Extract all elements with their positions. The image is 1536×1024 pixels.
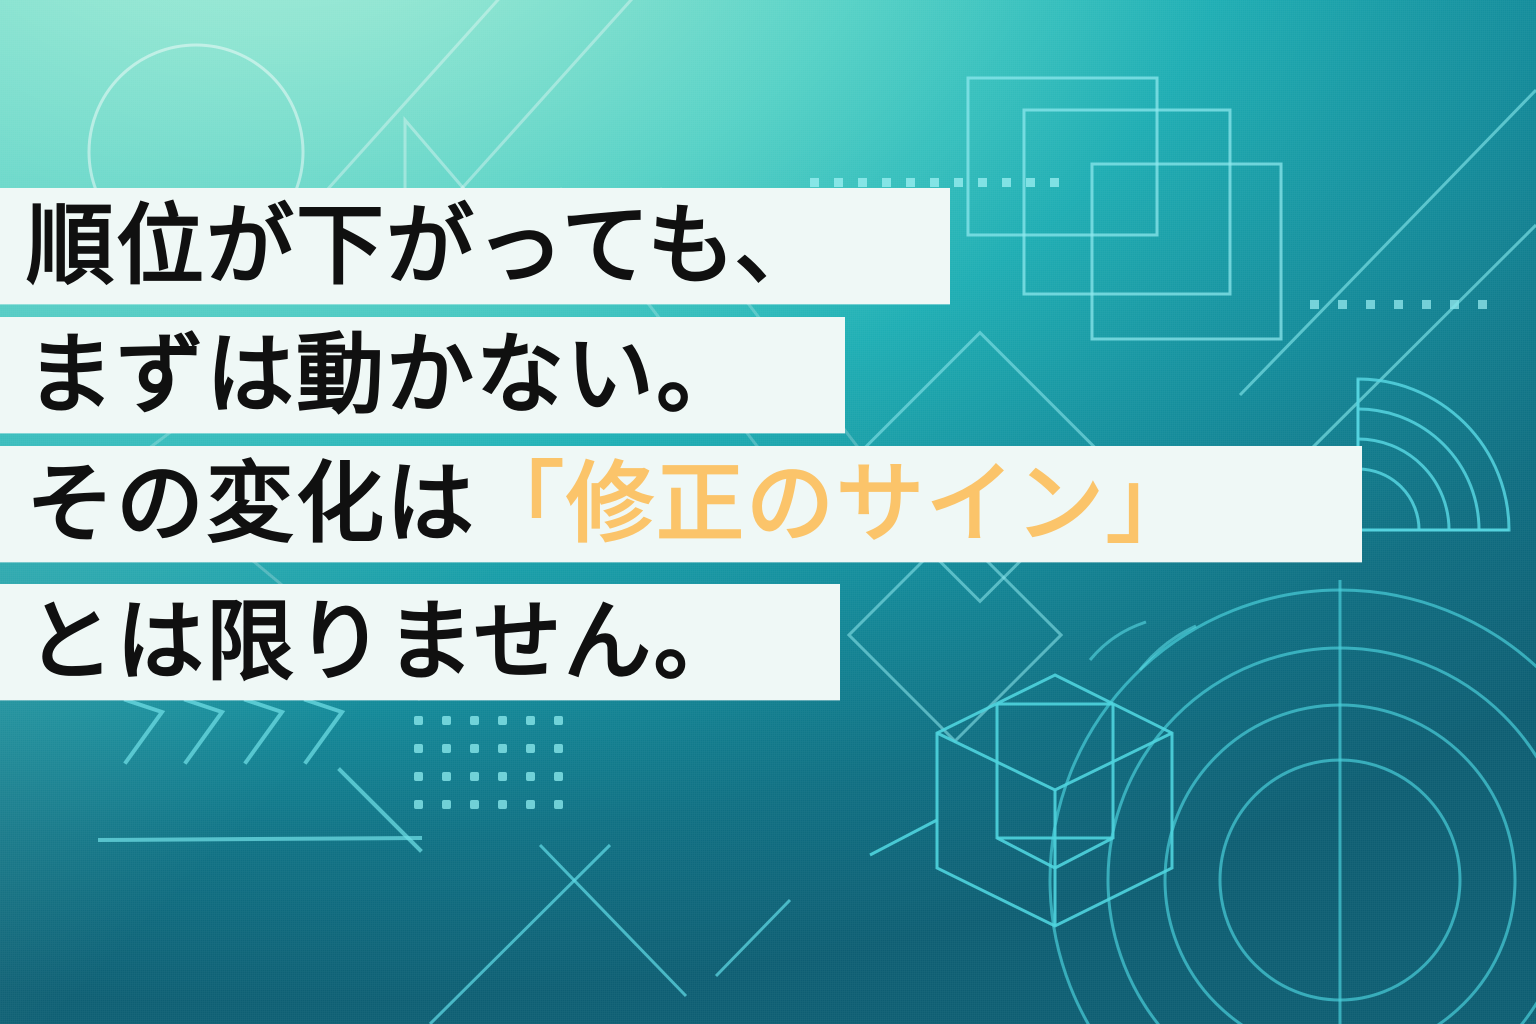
chevron-arrows <box>100 700 420 850</box>
dot-grid <box>414 716 563 809</box>
headline-line-3-highlight: 「修正のサイン」 <box>476 452 1196 555</box>
headline-line-3-plain: その変化は <box>26 452 476 555</box>
dotted-line-upper <box>810 178 1059 187</box>
quote-card-canvas: 順位が下がっても、 まずは動かない。 その変化は「修正のサイン」 とは限りません… <box>0 0 1536 1024</box>
headline-line-1: 順位が下がっても、 <box>0 188 950 304</box>
crossing-diagonal-lines-bottom <box>430 845 790 1024</box>
isometric-cube-wireframe <box>870 675 1172 926</box>
headline-block: 順位が下がっても、 まずは動かない。 その変化は「修正のサイン」 とは限りません… <box>0 188 1536 700</box>
headline-line-2: まずは動かない。 <box>0 317 845 433</box>
headline-line-3: その変化は「修正のサイン」 <box>0 446 1362 562</box>
headline-line-4: とは限りません。 <box>0 584 840 700</box>
diagonal-lines-top-left <box>318 0 640 200</box>
